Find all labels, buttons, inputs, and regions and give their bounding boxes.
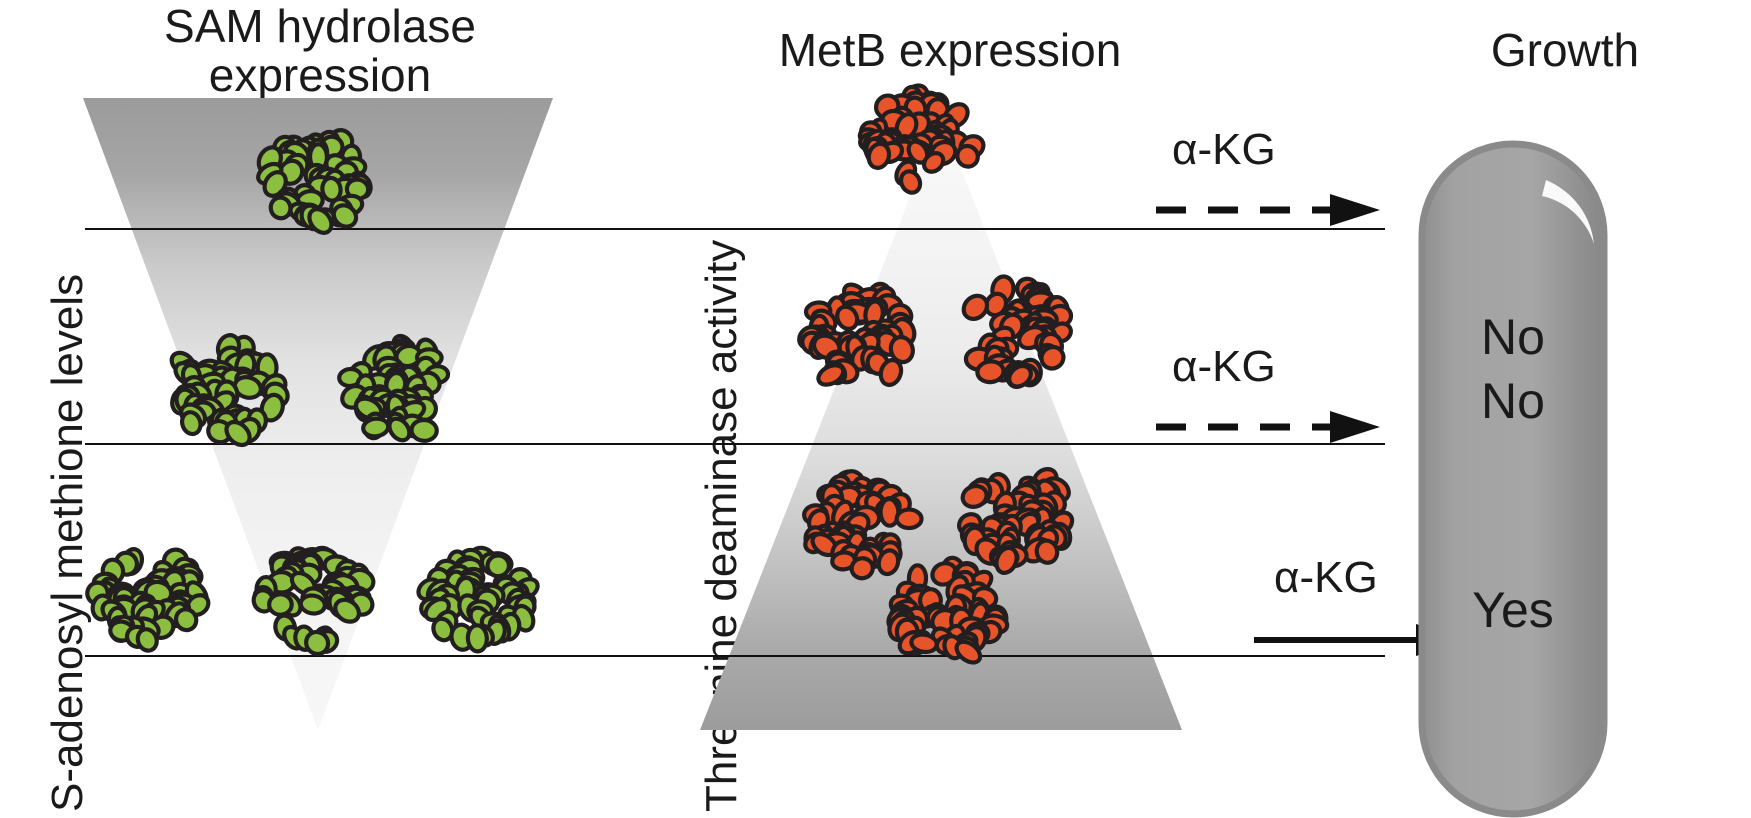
sam-cell-cluster xyxy=(418,542,538,652)
growth-verdict: No xyxy=(1418,308,1608,366)
growth-verdict: No xyxy=(1418,372,1608,430)
diagram-canvas: S-adenosyl methione levels Threonine dea… xyxy=(0,0,1751,817)
akg-label: α-KG xyxy=(1172,345,1276,389)
metb-cell-cluster xyxy=(800,282,920,392)
akg-label: α-KG xyxy=(1172,128,1276,172)
row-divider-3 xyxy=(85,655,1385,657)
metb-cell-cluster xyxy=(888,558,1008,668)
metb-column-title: MetB expression xyxy=(740,26,1160,75)
sam-cell-cluster xyxy=(255,542,375,652)
metb-cell-cluster xyxy=(862,85,982,195)
sam-cell-cluster xyxy=(88,542,208,652)
sam-cell-cluster xyxy=(165,335,285,445)
akg-dashed-arrow-icon xyxy=(1152,188,1392,232)
sam-cell-cluster xyxy=(258,122,378,232)
bacterium-cell: No No Yes xyxy=(1418,140,1608,818)
akg-arrow-group: α-KG xyxy=(1152,128,1392,232)
left-axis-label: S-adenosyl methione levels xyxy=(46,274,90,812)
sam-column-title-line1: SAM hydrolase xyxy=(85,2,555,51)
growth-verdict: Yes xyxy=(1418,581,1608,639)
growth-column-title: Growth xyxy=(1395,26,1735,75)
akg-label: α-KG xyxy=(1274,556,1378,600)
metb-cell-cluster xyxy=(955,462,1075,572)
sam-column-title-line2: expression xyxy=(85,51,555,100)
akg-arrow-group: α-KG xyxy=(1152,345,1392,449)
akg-dashed-arrow-icon xyxy=(1152,405,1392,449)
sam-cell-cluster xyxy=(340,335,460,445)
sam-column-title: SAM hydrolase expression xyxy=(85,2,555,100)
metb-cell-cluster xyxy=(955,278,1075,388)
